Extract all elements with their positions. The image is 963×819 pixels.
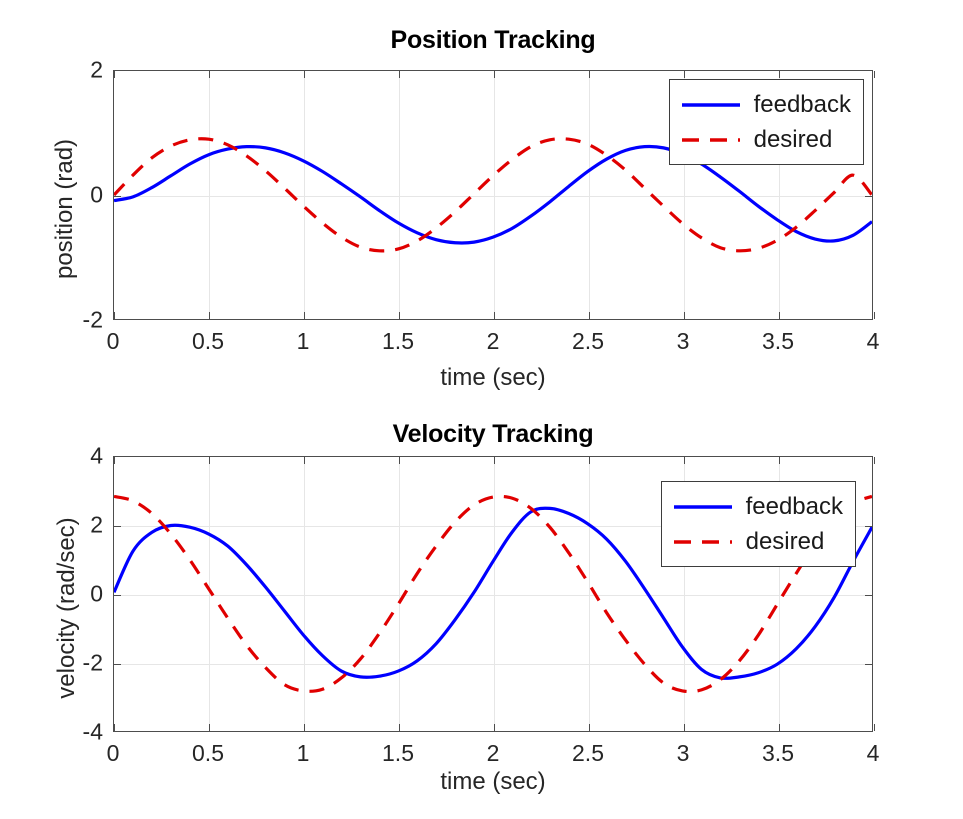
x-axis-tick	[589, 312, 590, 319]
y-tick-label: -4	[83, 719, 103, 746]
legend-row-feedback: feedback	[680, 87, 851, 122]
x-tick-label: 2.5	[572, 740, 604, 767]
x-axis-tick	[779, 457, 780, 464]
x-tick-label: 1	[297, 740, 310, 767]
x-axis-tick	[589, 457, 590, 464]
x-axis-tick	[399, 724, 400, 731]
x-axis-tick	[209, 312, 210, 319]
x-axis-tick	[874, 457, 875, 464]
matlab-figure: Position Tracking feedback desired	[0, 0, 963, 819]
x-axis-tick	[399, 457, 400, 464]
x-axis-tick	[304, 71, 305, 78]
y-tick-label: 2	[90, 57, 103, 84]
x-axis-tick	[399, 312, 400, 319]
x-tick-label: 3	[677, 740, 690, 767]
legend-label-desired: desired	[754, 128, 833, 152]
x-tick-label: 2	[487, 328, 500, 355]
position-tracking-panel: Position Tracking feedback desired	[0, 0, 963, 410]
legend-row-desired: desired	[680, 122, 851, 157]
y-tick-label: 0	[90, 581, 103, 608]
x-axis-tick	[779, 312, 780, 319]
x-tick-label: 0.5	[192, 740, 224, 767]
x-axis-tick	[304, 724, 305, 731]
x-tick-label: 3	[677, 328, 690, 355]
x-axis-tick	[209, 71, 210, 78]
x-tick-label: 4	[867, 328, 880, 355]
y-tick-label: -2	[83, 650, 103, 677]
position-axes: feedback desired	[113, 70, 873, 320]
velocity-axes: feedback desired	[113, 456, 873, 732]
x-axis-tick	[114, 312, 115, 319]
x-axis-tick	[494, 71, 495, 78]
velocity-tracking-panel: Velocity Tracking feedback desired	[0, 398, 963, 819]
feedback-line-swatch	[680, 95, 742, 115]
x-tick-label: 1.5	[382, 740, 414, 767]
x-axis-tick	[874, 312, 875, 319]
y-axis-tick	[114, 526, 121, 527]
x-axis-tick	[779, 71, 780, 78]
y-axis-tick	[114, 196, 121, 197]
x-axis-tick	[114, 71, 115, 78]
legend-label-desired: desired	[746, 530, 825, 554]
x-axis-tick	[684, 457, 685, 464]
position-legend[interactable]: feedback desired	[669, 79, 864, 165]
x-axis-tick	[874, 71, 875, 78]
x-axis-tick	[589, 71, 590, 78]
x-axis-tick	[209, 457, 210, 464]
feedback-line-swatch	[672, 497, 734, 517]
x-tick-label: 3.5	[762, 328, 794, 355]
y-tick-label: 4	[90, 443, 103, 470]
y-axis-tick	[114, 595, 121, 596]
legend-row-desired: desired	[672, 524, 843, 559]
x-axis-tick	[684, 71, 685, 78]
legend-label-feedback: feedback	[754, 93, 851, 117]
y-tick-label: 0	[90, 182, 103, 209]
x-axis-tick	[494, 724, 495, 731]
x-axis-tick	[304, 312, 305, 319]
x-axis-tick	[494, 312, 495, 319]
x-tick-label: 3.5	[762, 740, 794, 767]
y-axis-tick	[865, 196, 872, 197]
desired-line-swatch	[672, 532, 734, 552]
position-y-axis-label: position (rad)	[51, 84, 79, 334]
y-tick-label: 2	[90, 512, 103, 539]
x-axis-tick	[779, 724, 780, 731]
y-axis-tick	[865, 595, 872, 596]
x-tick-label: 0	[107, 328, 120, 355]
x-axis-tick	[399, 71, 400, 78]
x-axis-tick	[684, 312, 685, 319]
x-axis-tick	[589, 724, 590, 731]
x-tick-label: 4	[867, 740, 880, 767]
y-axis-tick	[865, 664, 872, 665]
x-tick-label: 2	[487, 740, 500, 767]
x-axis-tick	[684, 724, 685, 731]
position-plot-title: Position Tracking	[113, 26, 873, 55]
position-x-axis-label: time (sec)	[113, 364, 873, 392]
legend-label-feedback: feedback	[746, 495, 843, 519]
x-axis-tick	[114, 457, 115, 464]
velocity-y-axis-label: velocity (rad/sec)	[53, 463, 81, 753]
legend-row-feedback: feedback	[672, 489, 843, 524]
x-axis-tick	[209, 724, 210, 731]
x-tick-label: 1	[297, 328, 310, 355]
y-axis-tick	[865, 526, 872, 527]
desired-line-swatch	[680, 130, 742, 150]
x-tick-label: 2.5	[572, 328, 604, 355]
x-tick-label: 0.5	[192, 328, 224, 355]
x-tick-label: 1.5	[382, 328, 414, 355]
velocity-legend[interactable]: feedback desired	[661, 481, 856, 567]
y-axis-tick	[114, 664, 121, 665]
velocity-x-axis-label: time (sec)	[113, 768, 873, 796]
y-tick-label: -2	[83, 307, 103, 334]
velocity-plot-title: Velocity Tracking	[113, 420, 873, 449]
x-tick-label: 0	[107, 740, 120, 767]
x-axis-tick	[114, 724, 115, 731]
x-axis-tick	[874, 724, 875, 731]
x-axis-tick	[494, 457, 495, 464]
x-axis-tick	[304, 457, 305, 464]
